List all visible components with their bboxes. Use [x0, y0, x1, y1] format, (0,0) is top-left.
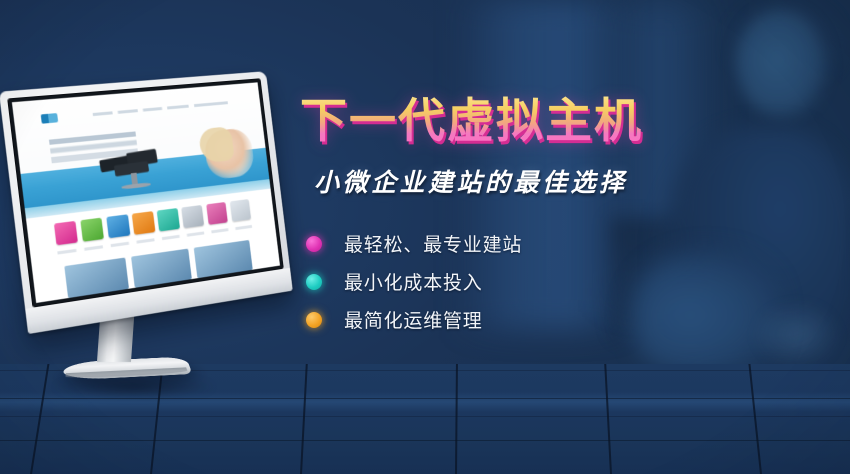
promo-banner: 下一代虚拟主机 小微企业建站的最佳选择 最轻松、最专业建站 最小化成本投入 最简…: [0, 0, 850, 474]
promo-headline: 下一代虚拟主机: [300, 96, 720, 147]
person-head: [736, 10, 828, 120]
website-app-icon: [53, 221, 78, 246]
website-card: [194, 240, 253, 278]
website-icon-row: [53, 199, 251, 245]
monitor-panel: [0, 71, 293, 334]
floor-vertical-line: [604, 364, 612, 474]
website-device-graphic: [97, 143, 177, 197]
monitor-ground-shadow: [54, 376, 214, 398]
website-app-icon: [182, 205, 205, 228]
device-base: [121, 182, 151, 190]
feature-item-label: 最简化运维管理: [344, 306, 483, 333]
feature-list: 最轻松、最专业建站 最小化成本投入 最简化运维管理: [306, 225, 720, 339]
website-logo-icon: [40, 113, 58, 124]
device-shape: [99, 155, 132, 173]
feature-item-label: 最轻松、最专业建站: [344, 230, 522, 257]
website-card: [131, 249, 193, 288]
website-app-icon: [80, 217, 104, 241]
feature-item: 最轻松、最专业建站: [306, 225, 720, 263]
bullet-dot-magenta-icon: [306, 236, 322, 252]
feature-item-label: 最小化成本投入: [344, 268, 483, 295]
website-hero-text-lines: [49, 131, 138, 163]
website-app-icon: [206, 202, 228, 225]
feature-item: 最小化成本投入: [306, 263, 720, 301]
website-app-icon: [230, 199, 252, 222]
floor-vertical-line: [748, 364, 762, 474]
website-app-icon: [132, 211, 155, 235]
floor-horizontal-line: [0, 416, 850, 417]
website-app-icon: [157, 208, 180, 232]
promo-subheadline: 小微企业建站的最佳选择: [314, 163, 720, 199]
laptop-screen-glow: [752, 300, 842, 370]
floor-horizontal-line: [0, 440, 850, 441]
feature-item: 最简化运维管理: [306, 301, 720, 339]
website-card: [64, 258, 129, 298]
floor-vertical-line: [455, 364, 458, 474]
bullet-dot-teal-icon: [306, 274, 322, 290]
desktop-monitor: [4, 80, 304, 395]
device-stand: [130, 173, 137, 186]
monitor-screen-website-preview: [12, 82, 280, 303]
bullet-dot-orange-icon: [306, 312, 322, 328]
floor-horizontal-line: [0, 398, 850, 399]
promo-text-block: 下一代虚拟主机 小微企业建站的最佳选择 最轻松、最专业建站 最小化成本投入 最简…: [300, 96, 720, 339]
website-logo-mark-icon: [40, 113, 48, 123]
monitor-bezel: [7, 78, 284, 308]
device-shape: [114, 160, 150, 176]
